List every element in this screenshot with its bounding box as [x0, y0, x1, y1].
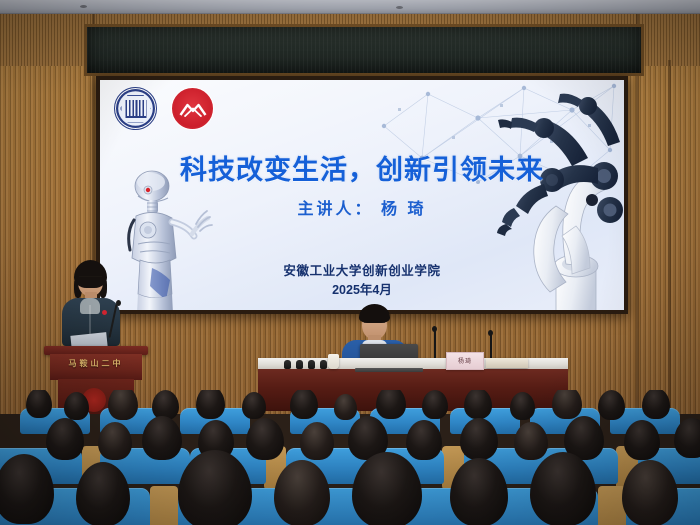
table-microphone-head-icon	[488, 330, 493, 336]
lecture-hall-scene: 科技改变生活，创新引领未来 主讲人： 杨 琦 安徽工业大学创新创业学院 2025…	[0, 0, 700, 525]
audience-head	[26, 390, 52, 418]
desk-knob[interactable]	[284, 360, 291, 369]
table-microphone-head-icon	[432, 326, 437, 332]
audience-head	[300, 422, 334, 460]
audience-head	[108, 390, 138, 420]
audience-head	[64, 392, 89, 420]
desk-knob[interactable]	[308, 360, 315, 369]
ceiling-fixture-icon	[396, 6, 403, 9]
presentation-slide: 科技改变生活，创新引领未来 主讲人： 杨 琦 安徽工业大学创新创业学院 2025…	[100, 80, 624, 310]
audience-head	[290, 390, 318, 419]
audience-head	[98, 422, 132, 460]
audience-head	[246, 418, 284, 460]
slide-organization: 安徽工业大学创新创业学院	[100, 260, 624, 279]
woman-lapel-badge	[102, 310, 107, 315]
desk-knob[interactable]	[296, 360, 303, 369]
audience-head	[406, 420, 442, 460]
slide-date: 2025年4月	[100, 279, 624, 298]
slide-title: 科技改变生活，创新引领未来	[100, 148, 624, 187]
woman-glasses-icon	[79, 276, 102, 281]
audience-head	[422, 390, 448, 419]
student-audience	[0, 390, 700, 525]
name-card: 杨琦	[446, 352, 484, 370]
audience-head	[376, 390, 406, 419]
podium-engraved-text: 马鞍山二中	[50, 358, 142, 369]
audience-head	[552, 390, 582, 419]
audience-head	[514, 422, 548, 460]
projection-screen: 科技改变生活，创新引领未来 主讲人： 杨 琦 安徽工业大学创新创业学院 2025…	[96, 76, 628, 314]
paper-cup	[328, 354, 339, 369]
slide-logo-row	[114, 87, 214, 130]
high-school-logo	[171, 87, 214, 130]
ceiling-fixture-icon	[80, 5, 87, 8]
audience-head	[242, 392, 266, 419]
man-hair	[359, 304, 390, 323]
woman-hair	[74, 260, 107, 288]
audience-head	[334, 394, 357, 420]
audience-head	[196, 390, 225, 419]
stacked-books	[486, 358, 528, 368]
audience-head	[460, 418, 498, 460]
audience-head	[598, 390, 625, 420]
desk-knob[interactable]	[320, 360, 327, 369]
audience-head	[510, 392, 535, 420]
audience-head	[142, 416, 182, 460]
seat-frame	[150, 486, 178, 525]
anhui-university-of-technology-logo	[114, 87, 157, 130]
audience-head	[46, 418, 84, 460]
logo-book-icon	[125, 100, 146, 118]
man-glasses-icon	[364, 322, 385, 326]
logo-mountain-icon	[179, 101, 206, 117]
dark-acoustic-valance	[84, 24, 644, 76]
audience-head	[464, 390, 492, 419]
podium-microphone-head-icon	[116, 300, 121, 306]
audience-head	[642, 390, 670, 419]
wall-panel-seam	[668, 60, 671, 410]
laptop-keyboard-base[interactable]	[355, 368, 423, 372]
audience-head	[624, 420, 660, 460]
slide-speaker-line: 主讲人： 杨 琦	[100, 195, 624, 219]
